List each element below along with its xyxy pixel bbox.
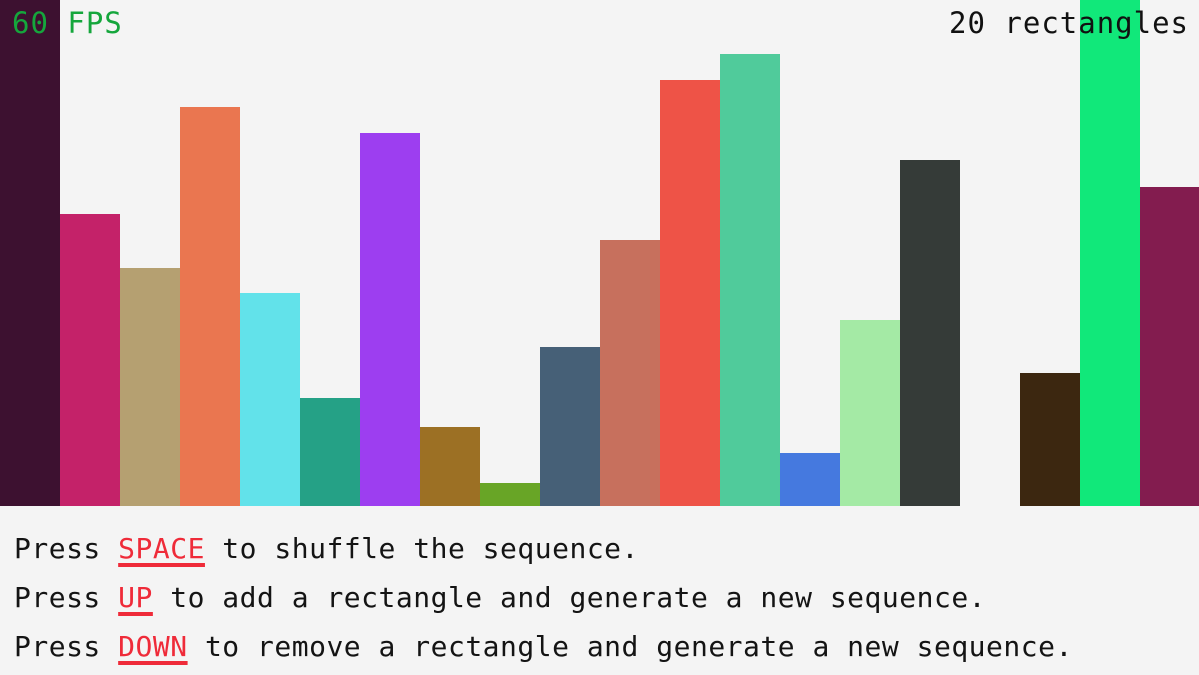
instruction-line-add: Press UP to add a rectangle and generate… <box>14 573 1199 622</box>
instruction-prefix: Press <box>14 581 118 614</box>
bar-rectangle <box>0 0 60 506</box>
fps-counter: 60 FPS <box>12 9 123 38</box>
bar-rectangle <box>540 347 600 506</box>
rectangle-count-label: 20 rectangles <box>949 9 1189 38</box>
bar-rectangle <box>780 453 840 506</box>
bar-rectangle <box>1140 187 1199 506</box>
rectangle-sequence-chart <box>0 0 1199 506</box>
instruction-line-remove: Press DOWN to remove a rectangle and gen… <box>14 622 1199 671</box>
instruction-line-shuffle: Press SPACE to shuffle the sequence. <box>14 524 1199 573</box>
bar-rectangle <box>1020 373 1080 506</box>
bar-rectangle <box>240 293 300 506</box>
bar-rectangle <box>120 268 180 506</box>
keycap-up[interactable]: UP <box>118 581 153 614</box>
bar-rectangle <box>660 80 720 506</box>
bar-rectangle <box>360 133 420 506</box>
game-canvas[interactable]: 60 FPS 20 rectangles Press SPACE to shuf… <box>0 0 1199 675</box>
bar-rectangle <box>480 483 540 506</box>
instruction-suffix: to shuffle the sequence. <box>205 532 639 565</box>
bar-rectangle <box>1080 0 1140 506</box>
instruction-prefix: Press <box>14 532 118 565</box>
instructions-panel: Press SPACE to shuffle the sequence. Pre… <box>0 506 1199 675</box>
instruction-suffix: to remove a rectangle and generate a new… <box>188 630 1073 663</box>
keycap-down[interactable]: DOWN <box>118 630 187 663</box>
bar-rectangle <box>720 54 780 506</box>
instruction-suffix: to add a rectangle and generate a new se… <box>153 581 986 614</box>
bar-rectangle <box>840 320 900 506</box>
bar-rectangle <box>900 160 960 506</box>
bar-rectangle <box>180 107 240 506</box>
instruction-prefix: Press <box>14 630 118 663</box>
bar-rectangle <box>600 240 660 506</box>
bar-rectangle <box>300 398 360 506</box>
bar-rectangle <box>420 427 480 506</box>
bar-rectangle <box>60 214 120 506</box>
keycap-space[interactable]: SPACE <box>118 532 205 565</box>
